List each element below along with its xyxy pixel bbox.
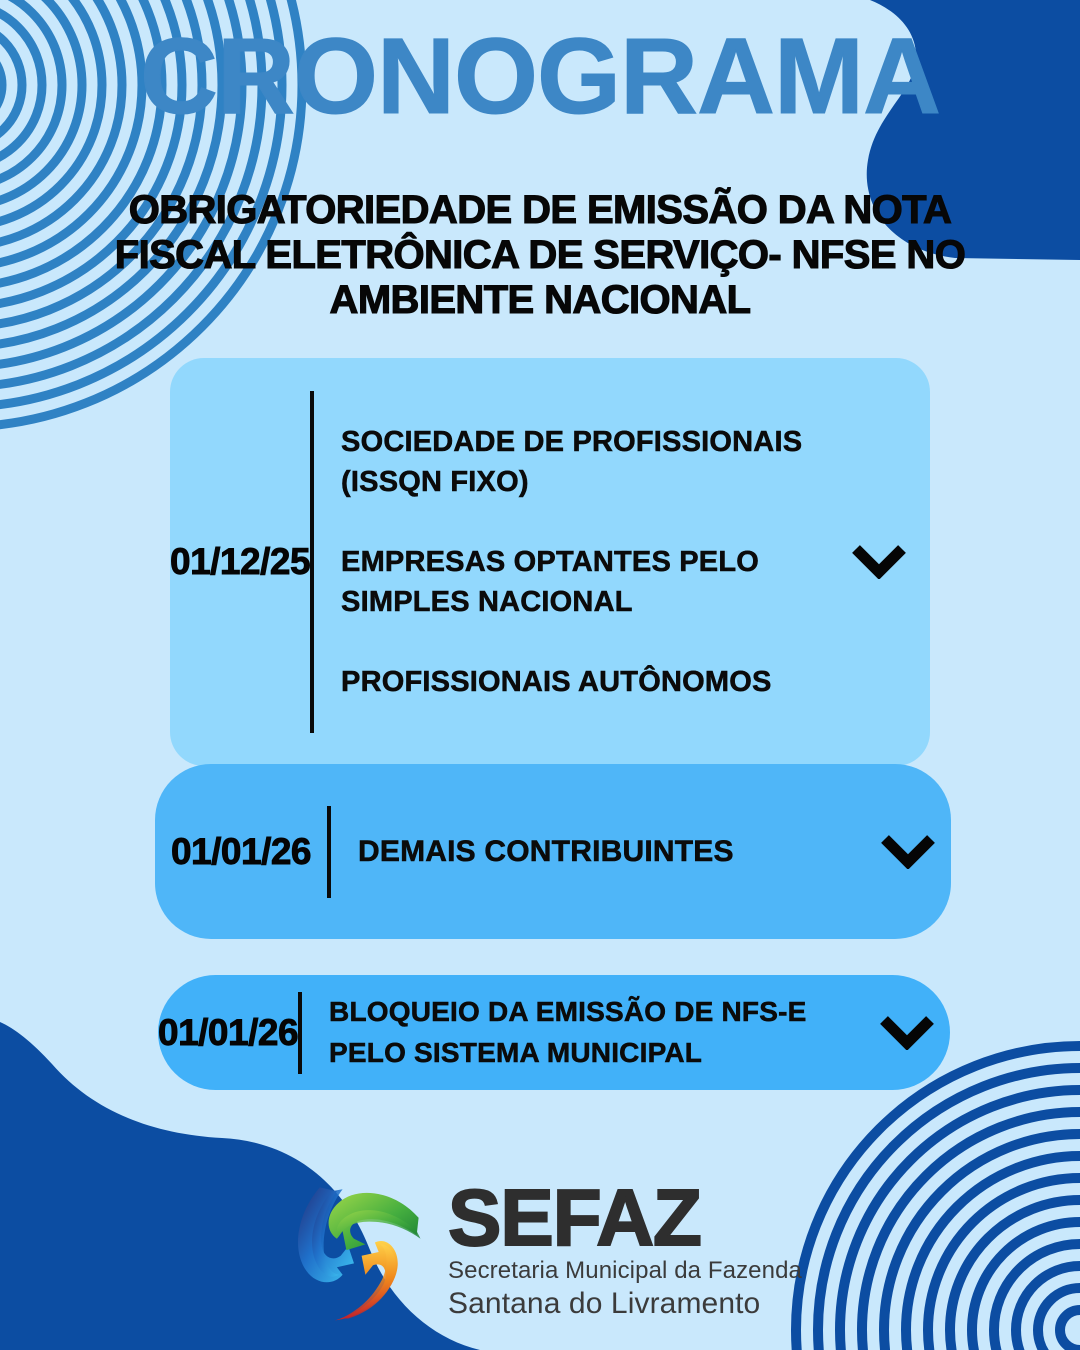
expand-button[interactable] [864,1016,950,1050]
list-item: SOCIEDADE DE PROFISSIONAIS (ISSQN FIXO) [341,422,836,502]
list-item: EMPRESAS OPTANTES PELO SIMPLES NACIONAL [341,542,836,622]
schedule-items: BLOQUEIO DA EMISSÃO DE NFS-E PELO SISTEM… [302,992,864,1073]
page-title: CRONOGRAMA [0,22,1080,130]
schedule-card-3[interactable]: 01/01/26 BLOQUEIO DA EMISSÃO DE NFS-E PE… [158,975,950,1090]
schedule-date: 01/12/25 [170,541,310,583]
brand-subtitle-1: Secretaria Municipal da Fazenda [448,1255,802,1286]
schedule-card-2[interactable]: 01/01/26 DEMAIS CONTRIBUINTES [155,764,951,939]
chevron-down-icon [880,1016,934,1050]
expand-button[interactable] [865,835,951,869]
poster-canvas: CRONOGRAMA OBRIGATORIEDADE DE EMISSÃO DA… [0,0,1080,1350]
schedule-items: DEMAIS CONTRIBUINTES [331,831,865,872]
schedule-card-1[interactable]: 01/12/25 SOCIEDADE DE PROFISSIONAIS (ISS… [170,358,930,766]
sefaz-pinwheel-arrows-icon [278,1176,430,1328]
list-item: PROFISSIONAIS AUTÔNOMOS [341,662,836,702]
chevron-down-icon [881,835,935,869]
list-item: DEMAIS CONTRIBUINTES [358,831,865,872]
logo-text-block: SEFAZ Secretaria Municipal da Fazenda Sa… [448,1181,802,1322]
schedule-items: SOCIEDADE DE PROFISSIONAIS (ISSQN FIXO) … [314,416,836,708]
footer-logo-block: SEFAZ Secretaria Municipal da Fazenda Sa… [0,1176,1080,1328]
brand-name: SEFAZ [448,1181,802,1255]
expand-button[interactable] [836,545,922,579]
schedule-date: 01/01/26 [158,1012,298,1054]
page-subtitle: OBRIGATORIEDADE DE EMISSÃO DA NOTA FISCA… [70,188,1010,322]
list-item: BLOQUEIO DA EMISSÃO DE NFS-E PELO SISTEM… [329,992,864,1073]
schedule-date: 01/01/26 [155,831,327,873]
brand-subtitle-2: Santana do Livramento [448,1286,802,1323]
chevron-down-icon [852,545,906,579]
